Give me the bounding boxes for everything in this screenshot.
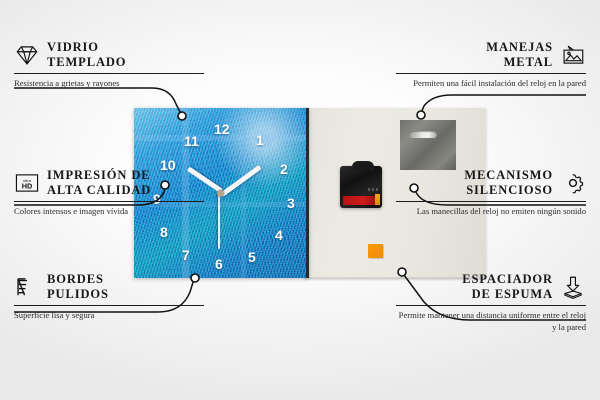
feature-mecanismo-silencioso: MECANISMO SILENCIOSO Las manecillas del … <box>396 168 586 218</box>
foam-spacer <box>368 244 383 258</box>
feature-title-line2: SILENCIOSO <box>464 183 553 198</box>
hanger-slot <box>409 131 437 138</box>
feature-title-line2: TEMPLADO <box>47 55 126 70</box>
feature-bordes-pulidos: BORDES PULIDOS Superficie lisa y segura <box>14 272 204 322</box>
feature-title-line2: METAL <box>486 55 553 70</box>
clock-numeral-8: 8 <box>160 225 168 239</box>
feature-title-line1: MECANISMO <box>464 168 553 183</box>
infographic-stage: 12 1 2 3 4 5 6 7 8 9 10 11 <box>0 0 600 400</box>
feature-description: Permiten una fácil instalación del reloj… <box>396 78 586 89</box>
feature-title-line1: VIDRIO <box>47 40 126 55</box>
feature-title-line2: DE ESPUMA <box>462 287 553 302</box>
silent-clock-mechanism <box>340 166 382 208</box>
feature-title-line1: ESPACIADOR <box>462 272 553 287</box>
feature-rule <box>396 201 586 203</box>
feature-vidrio-templado: VIDRIO TEMPLADO Resistencia a grietas y … <box>14 40 204 90</box>
clock-numeral-5: 5 <box>248 250 256 264</box>
feature-rule <box>14 201 204 203</box>
svg-text:HD: HD <box>22 181 33 190</box>
feature-title-line1: MANEJAS <box>486 40 553 55</box>
feature-description: Colores intensos e imagen vívida <box>14 206 204 217</box>
feature-description: Las manecillas del reloj no emiten ningú… <box>396 206 586 217</box>
feature-description: Permite mantener una distancia uniforme … <box>396 310 586 333</box>
second-hand <box>218 193 220 249</box>
feature-espaciador-espuma: ESPACIADOR DE ESPUMA Permite mantener un… <box>396 272 586 333</box>
mechanism-label-strip <box>368 188 378 191</box>
clock-numeral-11: 11 <box>184 134 199 148</box>
clock-numeral-2: 2 <box>280 162 288 176</box>
feature-rule <box>14 305 204 307</box>
clock-numeral-12: 12 <box>214 122 230 136</box>
metal-hanger-plate <box>400 120 456 170</box>
gear-icon <box>560 171 586 195</box>
feature-title-line2: ALTA CALIDAD <box>47 183 151 198</box>
ultra-hd-icon: ultra HD <box>14 171 40 195</box>
feature-title-line2: PULIDOS <box>47 287 109 302</box>
feature-manejas-metal: MANEJAS METAL Permiten una fácil instala… <box>396 40 586 90</box>
battery <box>343 196 379 205</box>
clock-numeral-4: 4 <box>275 228 283 242</box>
feature-description: Resistencia a grietas y rayones <box>14 78 204 89</box>
feature-title-line1: IMPRESIÓN DE <box>47 168 151 183</box>
clock-numeral-3: 3 <box>287 196 295 210</box>
feature-rule <box>396 73 586 75</box>
diamond-icon <box>14 43 40 67</box>
clock-numeral-1: 1 <box>256 133 264 147</box>
polished-edges-icon <box>14 275 40 299</box>
feature-description: Superficie lisa y segura <box>14 310 204 321</box>
hand-center-cap <box>217 190 224 197</box>
feature-impresion-alta-calidad: ultra HD IMPRESIÓN DE ALTA CALIDAD Color… <box>14 168 204 218</box>
feature-rule <box>14 73 204 75</box>
foam-spacer-icon <box>560 275 586 299</box>
picture-hanger-icon <box>560 43 586 67</box>
feature-rule <box>396 305 586 307</box>
pattern-line-v2 <box>241 108 246 278</box>
feature-title-line1: BORDES <box>47 272 109 287</box>
mechanism-loop <box>352 161 374 171</box>
clock-numeral-7: 7 <box>182 248 190 262</box>
clock-numeral-6: 6 <box>215 257 223 271</box>
